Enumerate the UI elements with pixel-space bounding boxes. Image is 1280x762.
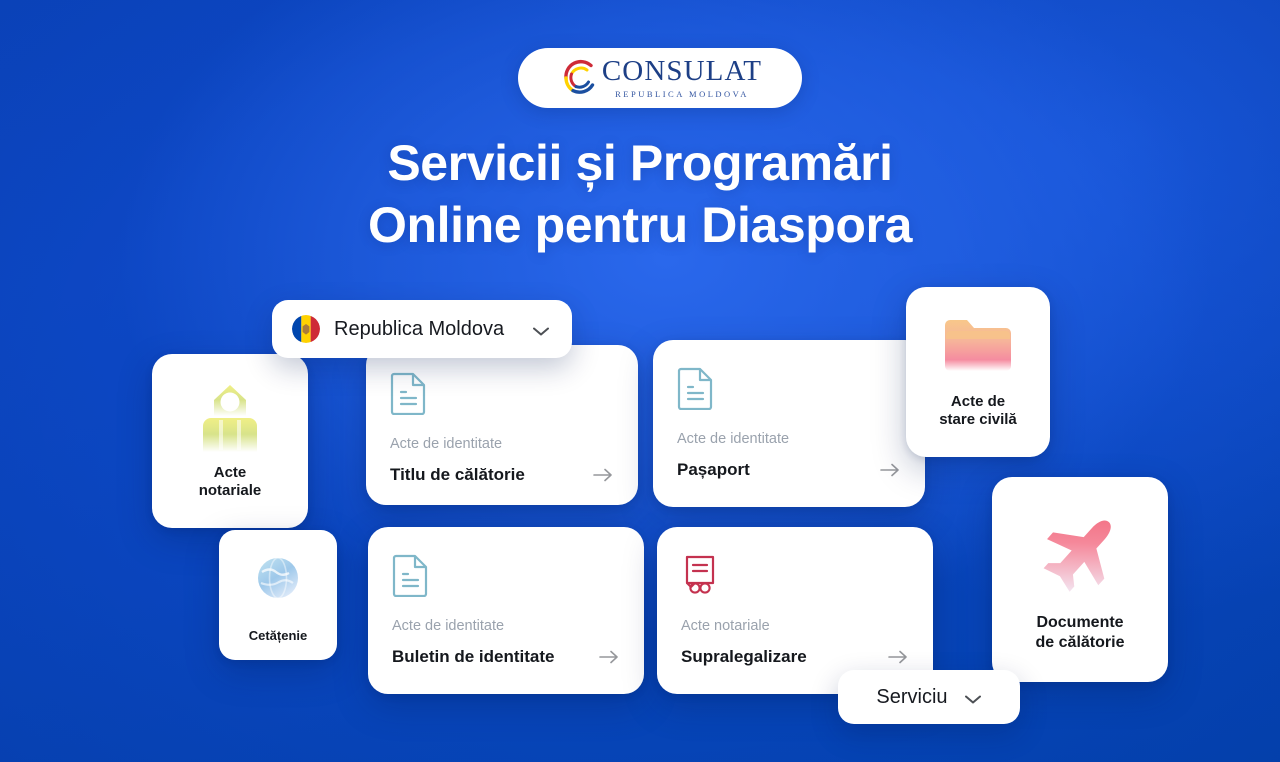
service-card-buletin-de-identitate[interactable]: Acte de identitate Buletin de identitate <box>368 527 644 694</box>
service-card-row: Supralegalizare <box>681 648 909 667</box>
document-icon <box>392 553 430 597</box>
service-selector-label: Serviciu <box>876 687 947 707</box>
service-card-supralegalizare[interactable]: Acte notariale Supralegalizare <box>657 527 933 694</box>
service-card-titlu-de-calatorie[interactable]: Acte de identitate Titlu de călătorie <box>366 345 638 505</box>
moldova-flag-icon <box>292 315 320 343</box>
folder-icon <box>941 315 1015 377</box>
category-tile-label: Acte notariale <box>199 464 262 501</box>
service-card-title: Pașaport <box>677 461 750 480</box>
document-icon <box>390 371 428 415</box>
country-selector-label: Republica Moldova <box>334 319 518 339</box>
country-selector-dropdown[interactable]: Republica Moldova <box>272 300 572 358</box>
service-card-category: Acte de identitate <box>390 437 614 452</box>
category-tile-acte-de-stare-civila[interactable]: Acte de stare civilă <box>906 287 1050 457</box>
brand-logo-word: CONSULAT <box>602 57 762 86</box>
page-title: Servicii și Programări Online pentru Dia… <box>0 132 1280 256</box>
notary-stamp-icon <box>189 380 271 458</box>
category-tile-label: Acte de stare civilă <box>939 393 1017 430</box>
certificate-seal-icon <box>681 553 719 597</box>
service-card-category: Acte de identitate <box>392 619 620 634</box>
service-card-row: Titlu de călătorie <box>390 466 614 485</box>
airplane-icon <box>1030 507 1130 601</box>
brand-logo-subtitle: REPUBLICA MOLDOVA <box>615 90 749 99</box>
arrow-right-icon[interactable] <box>598 649 620 665</box>
chevron-down-icon[interactable] <box>532 324 550 335</box>
service-selector-dropdown[interactable]: Serviciu <box>838 670 1020 724</box>
service-card-category: Acte de identitate <box>677 432 901 447</box>
service-card-pasaport[interactable]: Acte de identitate Pașaport <box>653 340 925 507</box>
service-card-row: Buletin de identitate <box>392 648 620 667</box>
brand-logo-text: CONSULAT REPUBLICA MOLDOVA <box>602 57 762 100</box>
document-icon <box>677 366 715 410</box>
category-tile-acte-notariale[interactable]: Acte notariale <box>152 354 308 528</box>
service-card-row: Pașaport <box>677 461 901 480</box>
service-card-title: Supralegalizare <box>681 648 807 667</box>
hero-stage: CONSULAT REPUBLICA MOLDOVA Servicii și P… <box>0 0 1280 762</box>
category-tile-label: Documente de călătorie <box>1036 613 1125 652</box>
brand-logo[interactable]: CONSULAT REPUBLICA MOLDOVA <box>518 48 802 108</box>
category-tile-documente-de-calatorie[interactable]: Documente de călătorie <box>992 477 1168 682</box>
category-tile-label: Cetățenie <box>249 628 308 644</box>
category-tile-cetatenie[interactable]: Cetățenie <box>219 530 337 660</box>
service-card-category: Acte notariale <box>681 619 909 634</box>
globe-icon <box>252 552 304 604</box>
service-card-title: Titlu de călătorie <box>390 466 525 485</box>
consulat-arc-logo-icon <box>558 57 600 99</box>
page-title-line-2: Online pentru Diaspora <box>0 194 1280 256</box>
arrow-right-icon[interactable] <box>879 462 901 478</box>
chevron-down-icon[interactable] <box>964 692 982 703</box>
arrow-right-icon[interactable] <box>887 649 909 665</box>
page-title-line-1: Servicii și Programări <box>0 132 1280 194</box>
arrow-right-icon[interactable] <box>592 467 614 483</box>
service-card-title: Buletin de identitate <box>392 648 554 667</box>
